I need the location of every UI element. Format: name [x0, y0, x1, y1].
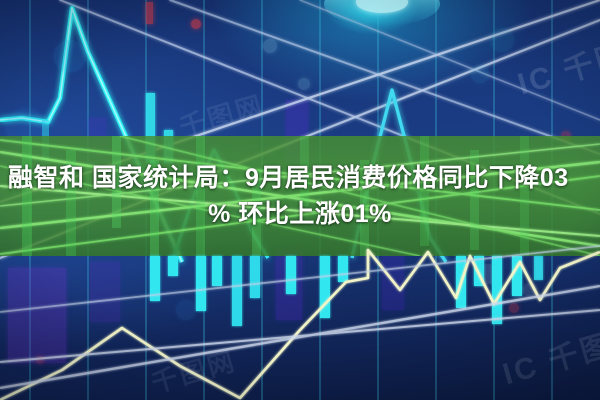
headline-line-2: % 环比上涨01%	[0, 196, 600, 232]
news-banner-image: 千图网 千图网 IC 千图网 IC 千图网 融智和 国家统计局：9月居民消费价格…	[0, 0, 600, 400]
headline-text: 融智和 国家统计局：9月居民消费价格同比下降03 % 环比上涨01%	[0, 160, 600, 232]
headline-line-1: 融智和 国家统计局：9月居民消费价格同比下降03	[0, 160, 600, 196]
